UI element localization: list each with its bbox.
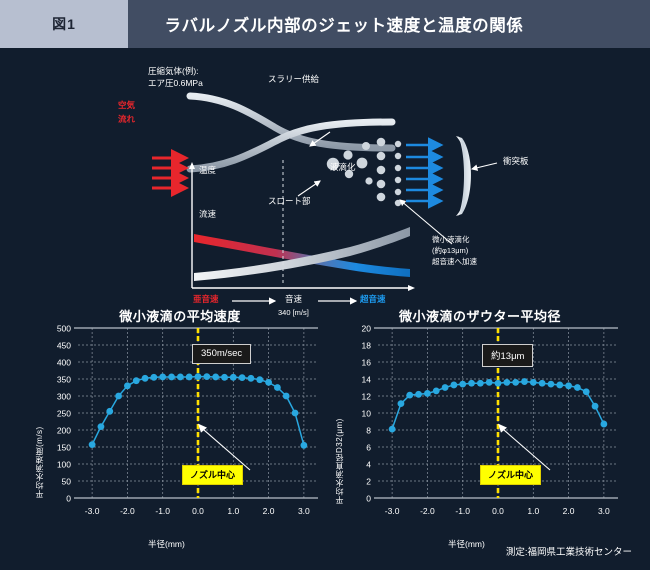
diameter-data-point bbox=[530, 379, 537, 386]
chart-diameter-title: 微小液滴のザウター平均径 bbox=[330, 306, 630, 325]
velocity-ytick: 250 bbox=[57, 408, 71, 418]
nozzle-diagram: 圧縮気体(例): エア圧0.6MPa 空気 流れ スラリー供給 液滴化 衝突板 … bbox=[0, 48, 650, 300]
diameter-data-point bbox=[583, 388, 590, 395]
diameter-ytick: 2 bbox=[366, 476, 371, 486]
velocity-data-point bbox=[265, 379, 272, 386]
diameter-data-point bbox=[548, 381, 555, 388]
diameter-data-point bbox=[503, 379, 510, 386]
diameter-center-leader bbox=[500, 427, 550, 470]
diameter-data-point bbox=[459, 381, 466, 388]
temperature-curve-label: 温度 bbox=[199, 165, 216, 176]
fine-droplet-label-line1: 微小液滴化 bbox=[432, 235, 470, 245]
chart-velocity: 微小液滴の平均速度 平均水滴速度(m/s) 半径(mm) 05010015020… bbox=[30, 300, 330, 560]
diameter-data-point bbox=[574, 384, 581, 391]
air-inflow-arrows bbox=[152, 158, 186, 188]
chart-diameter: 微小液滴のザウター平均径 平均水滴直径D32(μm) 半径(mm) 024681… bbox=[330, 300, 630, 560]
velocity-ytick: 50 bbox=[62, 476, 72, 486]
velocity-data-point bbox=[177, 374, 184, 381]
velocity-ytick: 0 bbox=[66, 493, 71, 503]
atomization-label: 液滴化 bbox=[330, 162, 356, 173]
velocity-data-point bbox=[212, 374, 219, 381]
diameter-data-point bbox=[406, 392, 413, 399]
chart-velocity-title: 微小液滴の平均速度 bbox=[30, 306, 330, 325]
diameter-ytick: 12 bbox=[362, 391, 372, 401]
leader-plate bbox=[472, 163, 497, 169]
chart-velocity-annotation: 350m/sec bbox=[192, 344, 251, 364]
velocity-data-point bbox=[124, 382, 131, 389]
diameter-ytick: 0 bbox=[366, 493, 371, 503]
chart-diameter-xlabel: 半径(mm) bbox=[448, 538, 485, 550]
velocity-xtick: 3.0 bbox=[298, 506, 310, 516]
chart-velocity-plot: 050100150200250300350400450500-3.0-2.0-1… bbox=[30, 300, 330, 535]
velocity-data-point bbox=[115, 393, 122, 400]
fine-droplet-label-line3: 超音速へ加速 bbox=[432, 257, 477, 267]
diameter-ytick: 18 bbox=[362, 340, 372, 350]
nozzle-diagram-svg bbox=[0, 48, 650, 300]
diameter-data-point bbox=[389, 426, 396, 433]
figure-body: 圧縮気体(例): エア圧0.6MPa 空気 流れ スラリー供給 液滴化 衝突板 … bbox=[0, 48, 650, 570]
velocity-xtick: 0.0 bbox=[192, 506, 204, 516]
velocity-data-point bbox=[256, 376, 263, 383]
velocity-data-point bbox=[239, 374, 246, 381]
velocity-xtick: -2.0 bbox=[120, 506, 135, 516]
impact-plate-label: 衝突板 bbox=[503, 156, 529, 167]
velocity-data-point bbox=[168, 374, 175, 381]
diameter-xtick: 2.0 bbox=[563, 506, 575, 516]
leader-atomize bbox=[298, 181, 320, 196]
diameter-data-point bbox=[433, 388, 440, 395]
air-flow-label-line1: 空気 bbox=[118, 100, 135, 111]
velocity-data-point bbox=[106, 408, 113, 415]
velocity-data-point bbox=[203, 373, 210, 380]
diameter-data-point bbox=[556, 382, 563, 389]
diameter-data-point bbox=[398, 400, 405, 407]
velocity-ytick: 150 bbox=[57, 442, 71, 452]
diameter-data-point bbox=[424, 390, 431, 397]
diameter-data-point bbox=[539, 380, 546, 387]
velocity-data-point bbox=[248, 375, 255, 382]
velocity-ytick: 200 bbox=[57, 425, 71, 435]
impact-plate-body bbox=[456, 136, 471, 216]
velocity-data-point bbox=[300, 442, 307, 449]
velocity-center-leader bbox=[200, 427, 250, 470]
velocity-ytick: 450 bbox=[57, 340, 71, 350]
charts-row: 微小液滴の平均速度 平均水滴速度(m/s) 半径(mm) 05010015020… bbox=[0, 300, 650, 570]
figure-number-badge: 図1 bbox=[0, 0, 128, 48]
velocity-data-point bbox=[142, 375, 149, 382]
velocity-data-point bbox=[221, 374, 228, 381]
diameter-data-point bbox=[477, 380, 484, 387]
velocity-ytick: 350 bbox=[57, 374, 71, 384]
velocity-data-point bbox=[283, 393, 290, 400]
velocity-ytick: 300 bbox=[57, 391, 71, 401]
diameter-data-point bbox=[442, 384, 449, 391]
air-flow-label-line2: 流れ bbox=[118, 114, 135, 125]
diameter-xtick: -1.0 bbox=[455, 506, 470, 516]
velocity-data-point bbox=[195, 373, 202, 380]
compressed-gas-label-line1: 圧縮気体(例): bbox=[148, 66, 199, 77]
velocity-data-point bbox=[292, 410, 299, 417]
diameter-data-point bbox=[600, 421, 607, 428]
diameter-data-point bbox=[521, 378, 528, 385]
measurement-note: 測定:福岡県工業技術センター bbox=[506, 544, 632, 558]
chart-diameter-annotation: 約13μm bbox=[482, 344, 533, 367]
diameter-xtick: 0.0 bbox=[492, 506, 504, 516]
velocity-xtick: 1.0 bbox=[227, 506, 239, 516]
diameter-data-point bbox=[512, 379, 519, 386]
diameter-data-point bbox=[592, 403, 599, 410]
velocity-data-point bbox=[98, 423, 105, 430]
supersonic-jet-arrows bbox=[406, 145, 441, 201]
velocity-data-point bbox=[186, 374, 193, 381]
diameter-ytick: 16 bbox=[362, 357, 372, 367]
diameter-xtick: -3.0 bbox=[385, 506, 400, 516]
figure-header: 図1 ラバルノズル内部のジェット速度と温度の関係 bbox=[0, 0, 650, 48]
page-title: ラバルノズル内部のジェット速度と温度の関係 bbox=[128, 12, 650, 36]
chart-velocity-ylabel: 平均水滴速度(m/s) bbox=[34, 348, 45, 498]
velocity-data-point bbox=[274, 384, 281, 391]
diameter-data-point bbox=[486, 379, 493, 386]
diameter-ytick: 14 bbox=[362, 374, 372, 384]
diameter-data-point bbox=[450, 382, 457, 389]
velocity-data-point bbox=[159, 374, 166, 381]
diameter-data-point bbox=[415, 391, 422, 398]
chart-diameter-plot: 02468101214161820-3.0-2.0-1.00.01.02.03.… bbox=[330, 300, 630, 535]
velocity-data-point bbox=[133, 377, 140, 384]
velocity-data-point bbox=[150, 374, 157, 381]
chart-diameter-center-label: ノズル中心 bbox=[480, 465, 541, 485]
diameter-xtick: 1.0 bbox=[527, 506, 539, 516]
chart-velocity-center-label: ノズル中心 bbox=[182, 465, 243, 485]
diameter-ytick: 6 bbox=[366, 442, 371, 452]
throat-label: スロート部 bbox=[268, 196, 311, 207]
figure-root: 図1 ラバルノズル内部のジェット速度と温度の関係 bbox=[0, 0, 650, 570]
diameter-data-point bbox=[468, 380, 475, 387]
slurry-supply-label: スラリー供給 bbox=[268, 74, 319, 85]
diameter-ytick: 8 bbox=[366, 425, 371, 435]
velocity-data-point bbox=[89, 441, 96, 448]
velocity-data-point bbox=[230, 374, 237, 381]
diameter-data-point bbox=[565, 382, 572, 389]
velocity-xtick: 2.0 bbox=[263, 506, 275, 516]
chart-diameter-ylabel: 平均水滴直径D32(μm) bbox=[334, 344, 345, 504]
chart-velocity-xlabel: 半径(mm) bbox=[148, 538, 185, 550]
diameter-ytick: 10 bbox=[362, 408, 372, 418]
diameter-xtick: 3.0 bbox=[598, 506, 610, 516]
fine-droplet-label-line2: (約φ13μm) bbox=[432, 246, 468, 256]
diameter-data-point bbox=[495, 380, 502, 387]
diameter-ytick: 4 bbox=[366, 459, 371, 469]
diameter-xtick: -2.0 bbox=[420, 506, 435, 516]
velocity-ytick: 100 bbox=[57, 459, 71, 469]
velocity-xtick: -3.0 bbox=[85, 506, 100, 516]
velocity-curve-label: 流速 bbox=[199, 209, 216, 220]
velocity-xtick: -1.0 bbox=[155, 506, 170, 516]
velocity-ytick: 400 bbox=[57, 357, 71, 367]
compressed-gas-label-line2: エア圧0.6MPa bbox=[148, 78, 203, 89]
